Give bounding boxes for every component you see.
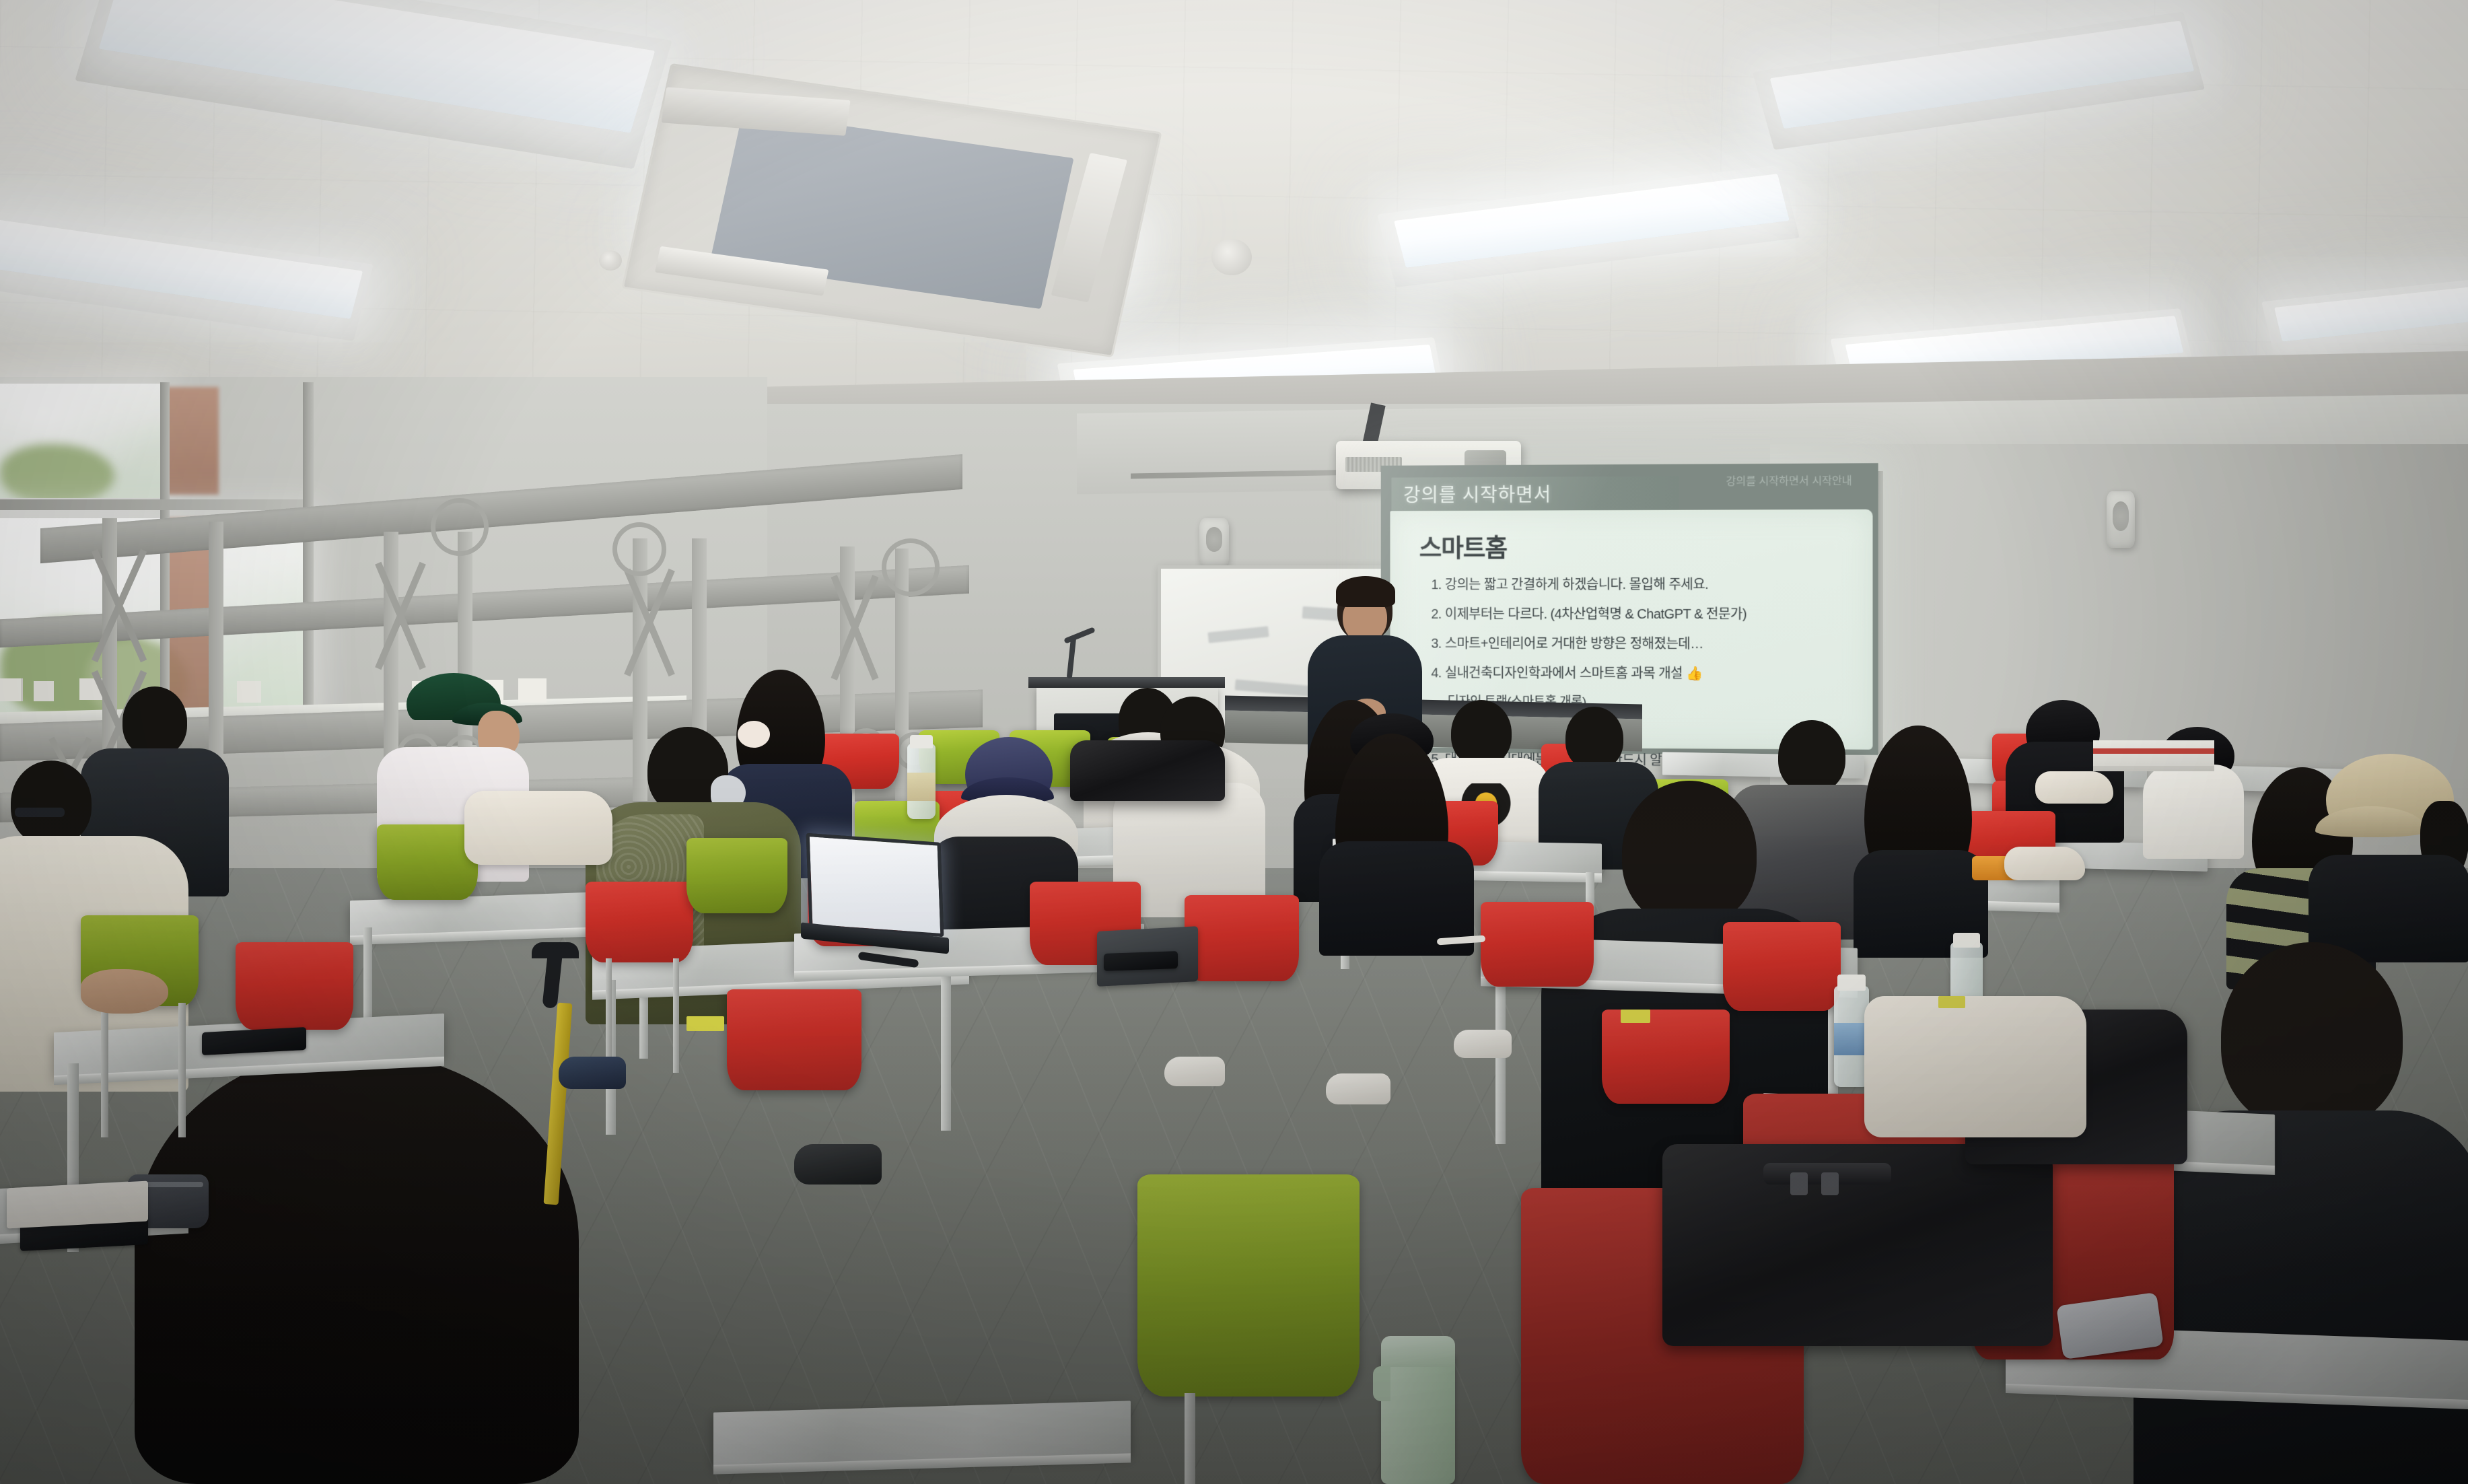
chair-red-f1[interactable] xyxy=(586,882,693,962)
student-head xyxy=(122,686,187,756)
chair-green-f2[interactable] xyxy=(377,824,478,900)
desk-front-bottom-center xyxy=(713,1401,1131,1466)
wall-speaker-center-icon xyxy=(1199,518,1229,567)
chair-red-f5[interactable] xyxy=(1481,902,1594,987)
chair-red-f7[interactable] xyxy=(236,942,353,1030)
slide-header-title: 강의를 시작하면서 xyxy=(1403,481,1551,508)
white-scarf xyxy=(2035,771,2113,804)
student-right-long-hair xyxy=(1844,726,1992,934)
student-hair-foreground xyxy=(135,1050,579,1484)
slide-header-bar: 강의를 시작하면서 xyxy=(1391,476,1679,511)
smoke-detector-icon xyxy=(1211,239,1252,275)
chair-gf1-leg2 xyxy=(178,1003,186,1137)
model-chair-1 xyxy=(0,678,23,701)
hand-front-left xyxy=(81,969,168,1014)
lecture-hall-photo: 강의를 시작하면서 시작안내 강의를 시작하면서 스마트홈 1. 강의는 짧고 … xyxy=(0,0,2468,1484)
slide-bullet-1: 1. 강의는 짧고 간결하게 하겠습니다. 몰입해 주세요. xyxy=(1431,573,1856,594)
slide-title: 스마트홈 xyxy=(1419,527,1856,564)
desk-label-sticker-2 xyxy=(1621,1010,1650,1023)
truss-ring-3 xyxy=(882,538,940,596)
window-upper-left xyxy=(0,384,162,498)
laptop-screen[interactable] xyxy=(806,833,944,937)
ac-vent-blade-top xyxy=(662,87,851,135)
water-bottle-back-label xyxy=(907,773,936,801)
student-head xyxy=(1565,707,1623,770)
thermos-lid xyxy=(1381,1336,1455,1367)
phone-center[interactable] xyxy=(1104,951,1178,971)
slide-bullet-4: 4. 실내건축디자인학과에서 스마트홈 과목 개설 👍 xyxy=(1431,662,1856,682)
student-head xyxy=(1622,781,1757,925)
presenter-hair xyxy=(1336,576,1395,607)
model-chair-4 xyxy=(237,681,261,703)
black-bag-on-desk-back[interactable] xyxy=(1070,740,1225,801)
student-head xyxy=(2221,942,2403,1131)
notebook-front-left[interactable] xyxy=(7,1180,148,1228)
chair-red-f6[interactable] xyxy=(1723,922,1841,1011)
ceiling-sensor-icon xyxy=(599,250,622,271)
water-bottle-right-2-cap xyxy=(1953,933,1980,948)
desk-ml-leg-r xyxy=(941,970,951,1131)
chair-red-f8[interactable] xyxy=(727,989,861,1090)
chair-gf4-leg xyxy=(1185,1393,1195,1484)
student-long-hair-center xyxy=(1306,713,1474,935)
desk-label-sticker-1 xyxy=(686,1016,724,1031)
model-chair-2 xyxy=(34,681,54,701)
student-head xyxy=(11,761,92,845)
water-bottle-right-cap xyxy=(1837,975,1866,991)
chair-green-f3[interactable] xyxy=(686,838,787,913)
duffel-bag-buckle-2 xyxy=(1821,1172,1839,1195)
storage-boxes xyxy=(2093,740,2214,771)
student-tan-cap xyxy=(2295,754,2468,942)
window-mullion-horizontal xyxy=(0,499,310,510)
shoe-dark-1 xyxy=(794,1144,882,1185)
chair-f1-leg xyxy=(606,958,612,1073)
desk-rm-leg-l xyxy=(1495,983,1506,1144)
draped-cloth-left xyxy=(464,791,612,865)
slide-ghost-overflow-text: 강의를 시작하면서 시작안내 xyxy=(1704,471,1874,489)
lectern-top xyxy=(1028,677,1225,688)
chair-f1-leg2 xyxy=(673,958,679,1073)
shoe-white-3 xyxy=(1454,1030,1512,1058)
chair-green-f4[interactable] xyxy=(1137,1174,1360,1397)
slide-bullet-2: 2. 이제부터는 다르다. (4차산업혁명 & ChatGPT & 전문가) xyxy=(1431,603,1856,623)
thermos-clip xyxy=(1373,1366,1390,1401)
shoe-white-1 xyxy=(1164,1057,1225,1086)
storage-box-stripe xyxy=(2093,748,2214,754)
shoe-navy xyxy=(559,1057,626,1089)
duffel-bag-buckle xyxy=(1790,1172,1808,1195)
white-cloth-on-chair xyxy=(2004,847,2085,880)
chair-red-f9[interactable] xyxy=(1602,1010,1730,1104)
student-glasses-icon xyxy=(15,808,65,817)
umbrella-hook xyxy=(532,942,579,958)
chair-gf1-leg xyxy=(101,1003,108,1137)
truss-ring-1 xyxy=(431,498,489,556)
slide-bullet-3: 3. 스마트+인테리어로 거대한 방향은 정해졌는데… xyxy=(1431,633,1856,653)
truss-ring-2 xyxy=(612,522,666,576)
draped-sweater-right xyxy=(1864,996,2086,1137)
exterior-brick xyxy=(165,387,219,495)
mint-thermos[interactable] xyxy=(1381,1353,1455,1484)
window-frame-right xyxy=(303,382,314,722)
chair-red-f4[interactable] xyxy=(1185,895,1299,981)
student-foreground-long-hair xyxy=(135,1050,579,1484)
water-bottle-back-cap xyxy=(910,735,933,748)
shoe-white-2 xyxy=(1326,1073,1390,1104)
wall-speaker-right-icon xyxy=(2107,491,2135,548)
desk-label-sticker-3 xyxy=(1938,996,1965,1008)
